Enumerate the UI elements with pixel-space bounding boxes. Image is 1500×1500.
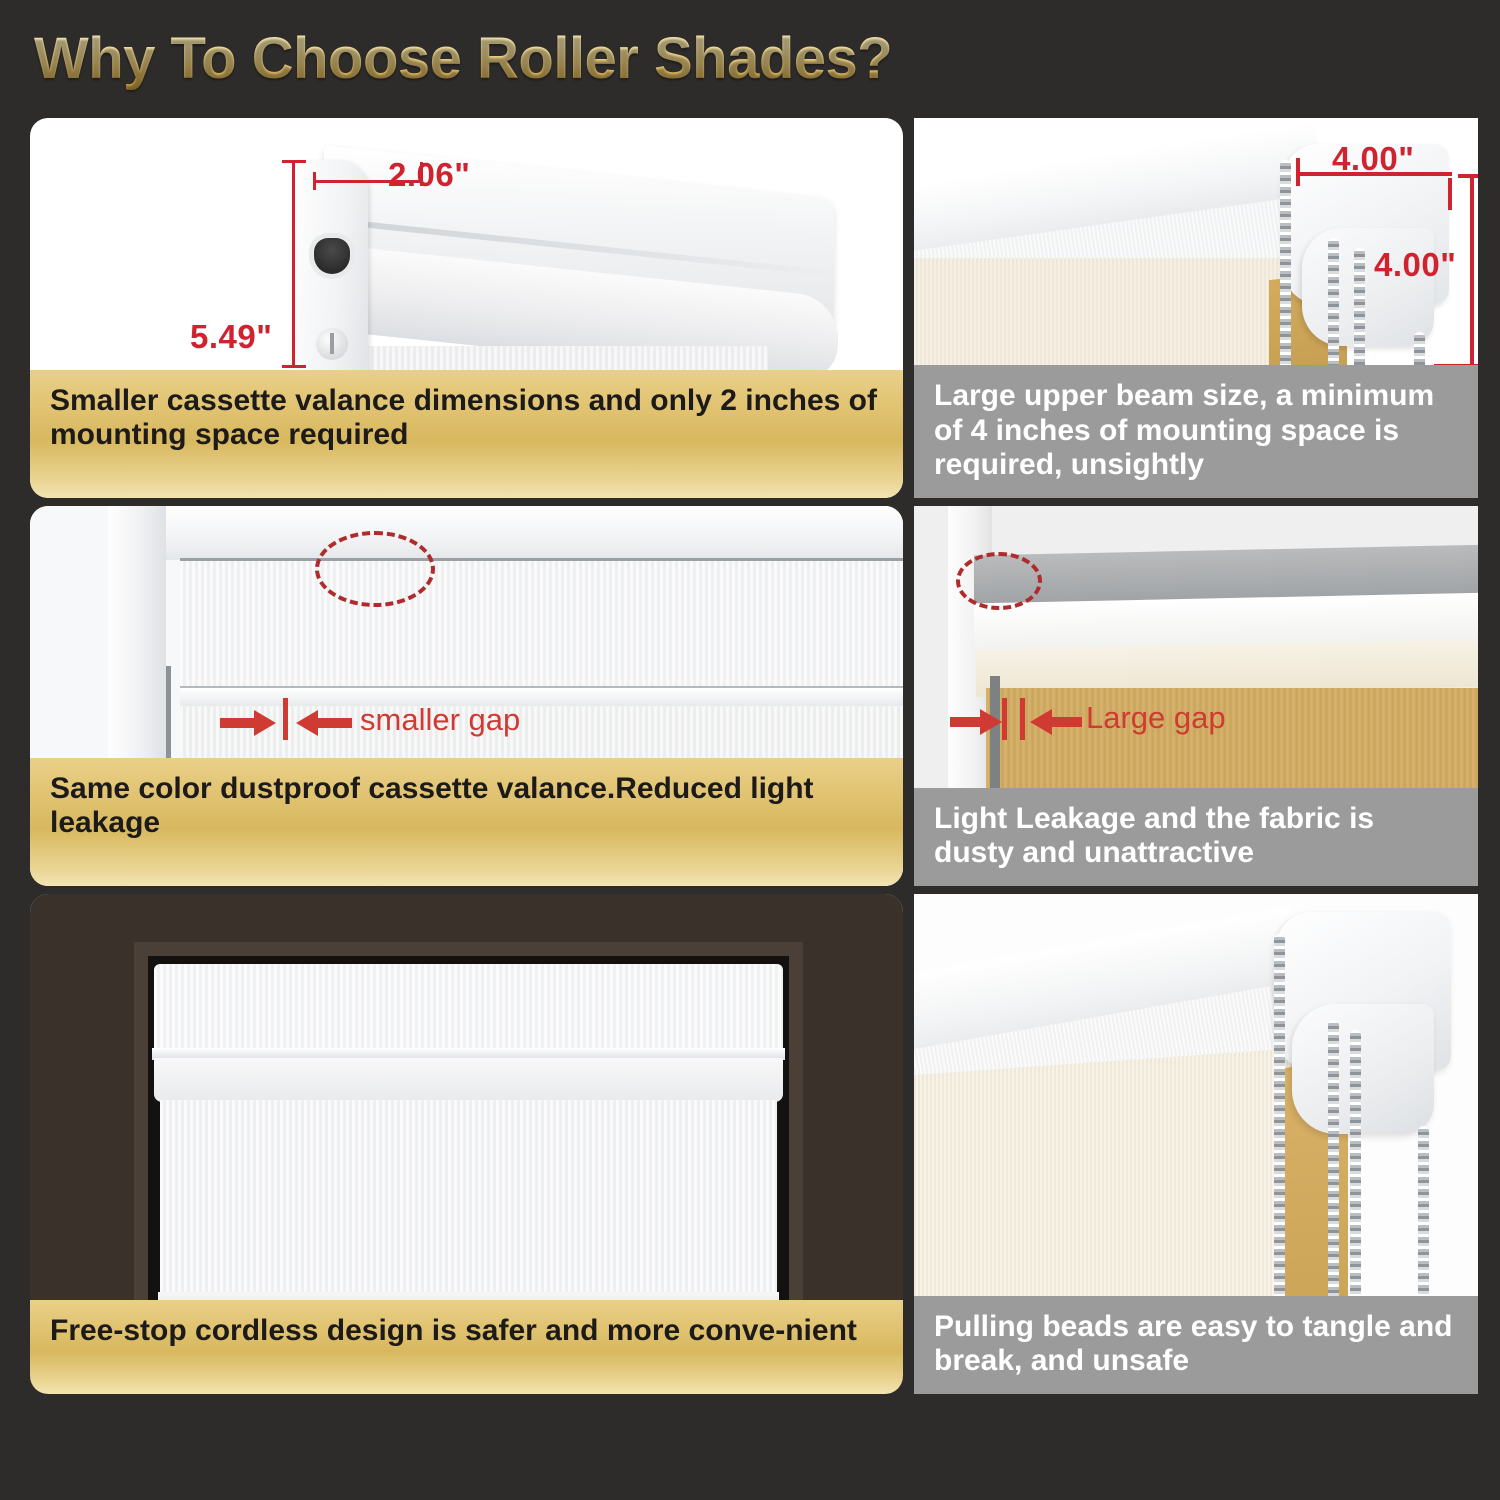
cordless-valance	[154, 964, 783, 1050]
beads-bracket-lower	[1292, 1004, 1434, 1134]
cassette-lip	[180, 686, 903, 706]
cordless-roll	[154, 1058, 783, 1102]
width-dimension-label: 2.06"	[388, 156, 470, 194]
beam-height-label: 4.00"	[1374, 246, 1456, 284]
valance-screw	[316, 328, 348, 360]
panel-cassette-dimensions: 5.49" 2.06" Smaller cassette valance dim…	[30, 118, 903, 498]
height-dimension-line	[292, 160, 295, 368]
page-title: Why To Choose Roller Shades?	[34, 25, 892, 92]
panel-smaller-gap: smaller gap Same color dustproof cassett…	[30, 506, 903, 886]
smaller-gap-label: smaller gap	[360, 702, 520, 738]
height-dimension-label: 5.49"	[190, 318, 272, 356]
gap-marker-right	[1020, 698, 1025, 740]
caption-cordless-design: Free-stop cordless design is safer and m…	[30, 1300, 903, 1394]
beam-height-tick-top	[1458, 174, 1478, 178]
panel-pulling-beads: Pulling beads are easy to tangle and bre…	[914, 894, 1478, 1394]
cordless-shade-fabric	[160, 1100, 777, 1296]
arrow-right-icon	[950, 706, 1006, 738]
panel-large-upper-beam: 4.00" 4.00" Large upper beam size, a min…	[914, 118, 1478, 498]
highlight-ellipse-icon	[956, 552, 1042, 610]
panel-large-gap: Large gap Light Leakage and the fabric i…	[914, 506, 1478, 886]
arrow-left-icon	[292, 706, 352, 740]
beam-width-tick-left	[1296, 158, 1300, 186]
beam-width-label: 4.00"	[1332, 140, 1414, 178]
width-tick-left	[313, 172, 316, 190]
beam-width-tick-right	[1448, 178, 1452, 210]
caption-smaller-gap: Same color dustproof cassette valance.Re…	[30, 758, 903, 886]
arrow-right-icon	[220, 706, 280, 740]
valance-slot	[314, 238, 350, 274]
caption-large-gap: Light Leakage and the fabric is dusty an…	[914, 788, 1478, 886]
cassette-valance-front	[180, 558, 903, 690]
comparison-grid: 5.49" 2.06" Smaller cassette valance dim…	[30, 118, 1478, 1394]
header-bar: Why To Choose Roller Shades?	[34, 22, 892, 94]
beam-height-line	[1470, 174, 1474, 366]
arrow-left-icon	[1026, 706, 1082, 738]
height-tick-bottom	[282, 365, 306, 368]
highlight-ellipse-icon	[315, 531, 435, 607]
caption-large-upper-beam: Large upper beam size, a minimum of 4 in…	[914, 365, 1478, 498]
valance-end-cap	[290, 160, 368, 396]
window-head	[166, 506, 903, 560]
panel-cordless-design: Free-stop cordless design is safer and m…	[30, 894, 903, 1394]
gap-marker	[283, 698, 288, 740]
height-tick-top	[282, 160, 306, 163]
caption-cassette-dimensions: Smaller cassette valance dimensions and …	[30, 370, 903, 498]
caption-pulling-beads: Pulling beads are easy to tangle and bre…	[914, 1296, 1478, 1394]
large-gap-label: Large gap	[1086, 700, 1226, 736]
